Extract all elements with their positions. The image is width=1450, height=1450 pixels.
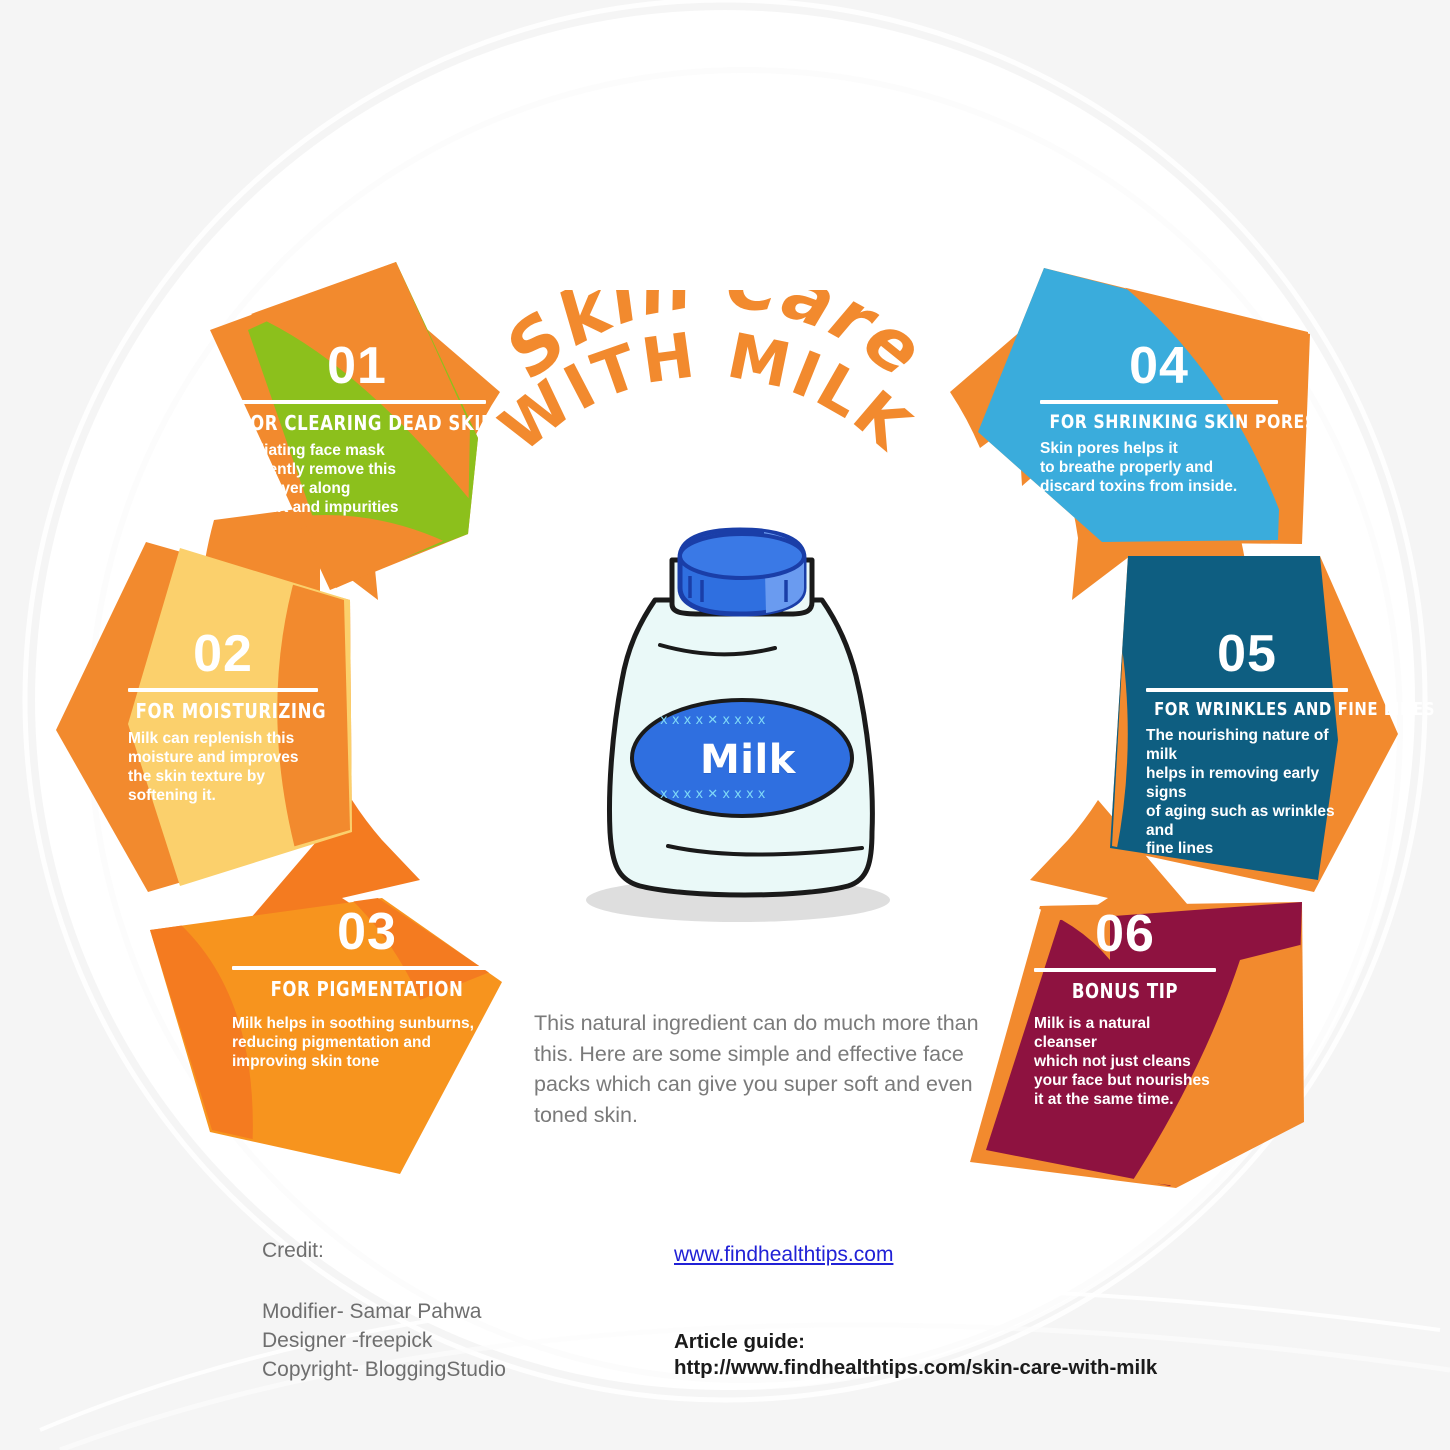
svg-text:x x x x ✕ x x x x: x x x x ✕ x x x x [660, 787, 766, 802]
segment-01-body: exfoliating face maskcan gently remove t… [228, 442, 486, 518]
segment-04-text: 04 FOR SHRINKING SKIN PORES Skin pores h… [1040, 340, 1278, 497]
segment-03-heading: FOR PIGMENTATION [243, 977, 491, 1001]
center-paragraph: This natural ingredient can do much more… [534, 1008, 984, 1131]
bottle-cap-top [680, 534, 804, 578]
segment-06-text: 06 BONUS TIP Milk is a natural cleanserw… [1034, 908, 1216, 1110]
label-pattern-bottom: x x x x ✕ x x x x [660, 787, 766, 802]
label-pattern-top: x x x x ✕ x x x x [660, 713, 766, 728]
segment-02-rule [128, 688, 318, 692]
segment-01-rule [228, 400, 486, 404]
segment-06-body: Milk is a natural cleanserwhich not just… [1034, 1015, 1216, 1110]
segment-02-body: Milk can replenish thismoisture and impr… [128, 730, 318, 806]
segment-06-rule [1034, 968, 1216, 972]
segment-05-body: The nourishing nature of milkhelps in re… [1146, 727, 1348, 859]
segment-02-text: 02 FOR MOISTURIZING Milk can replenish t… [128, 628, 318, 806]
segment-05-number: 05 [1146, 628, 1348, 680]
segment-03-number: 03 [232, 906, 502, 958]
segment-02-heading: FOR MOISTURIZING [136, 699, 311, 723]
credit-copyright: Copyright- BloggingStudio [262, 1359, 642, 1380]
credit-title: Credit: [262, 1240, 642, 1261]
bottle-label-text: Milk [700, 737, 796, 783]
article-guide-url[interactable]: http://www.findhealthtips.com/skin-care-… [674, 1355, 1294, 1381]
segment-03-body: Milk helps in soothing sunburns,reducing… [232, 1015, 502, 1072]
segment-03-rule [232, 966, 502, 970]
segment-03-text: 03 FOR PIGMENTATION Milk helps in soothi… [232, 906, 502, 1072]
site-link[interactable]: www.findhealthtips.com [674, 1243, 893, 1267]
credit-modifier: Modifier- Samar Pahwa [262, 1301, 642, 1322]
segment-04-heading: FOR SHRINKING SKIN PORES [1050, 411, 1269, 433]
segment-05-text: 05 FOR WRINKLES AND FINE LINES The nouri… [1146, 628, 1348, 859]
article-guide-label: Article guide: [674, 1329, 1294, 1355]
svg-text:x x x x ✕ x x x x: x x x x ✕ x x x x [660, 713, 766, 728]
segment-05-heading: FOR WRINKLES AND FINE LINES [1154, 699, 1340, 720]
segment-04-number: 04 [1040, 340, 1278, 392]
article-guide: Article guide: http://www.findhealthtips… [674, 1329, 1294, 1381]
segment-01-number: 01 [228, 340, 486, 392]
segment-01-heading: FOR CLEARING DEAD SKIN [238, 411, 475, 435]
credit-block: Credit: Modifier- Samar Pahwa Designer -… [262, 1240, 642, 1388]
segment-06-number: 06 [1034, 908, 1216, 960]
infographic-canvas: Skin Care WITH MILK x x x x ✕ x x x x [0, 0, 1450, 1450]
link-block: www.findhealthtips.com Article guide: ht… [674, 1243, 1294, 1381]
segment-04-rule [1040, 400, 1278, 404]
segment-06-heading: BONUS TIP [1041, 979, 1208, 1003]
segment-05-rule [1146, 688, 1348, 692]
credit-designer: Designer -freepick [262, 1330, 642, 1351]
bottle-cap [680, 530, 804, 614]
segment-04-body: Skin pores helps itto breathe properly a… [1040, 440, 1278, 497]
segment-02-number: 02 [128, 628, 318, 680]
segment-01-text: 01 FOR CLEARING DEAD SKIN exfoliating fa… [228, 340, 486, 518]
